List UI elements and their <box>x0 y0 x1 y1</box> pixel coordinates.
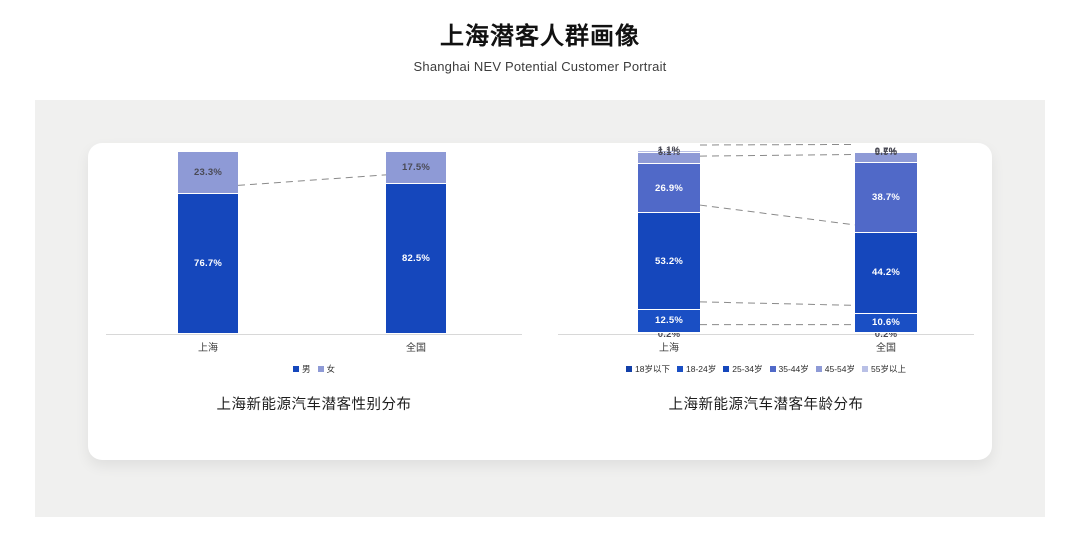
age-segment-label: 26.9% <box>655 184 683 194</box>
age-chart-panel: 0.2%12.5%53.2%26.9%6.1%1.1% 0.2%10.6%44.… <box>540 143 992 460</box>
gender-legend-item[interactable]: 女 <box>318 365 336 374</box>
age-connector <box>700 302 855 305</box>
age-segment-3-1: 38.7% <box>855 163 917 233</box>
gender-plot-area: 76.7%23.3% 82.5%17.5% 上海 全国 <box>88 143 540 343</box>
age-legend-label: 35-44岁 <box>779 365 809 374</box>
age-connector-lines <box>540 143 992 343</box>
gender-tick-national: 全国 <box>406 339 426 354</box>
age-legend-item[interactable]: 18-24岁 <box>677 365 716 374</box>
legend-swatch-icon <box>862 366 868 372</box>
age-legend-label: 45-54岁 <box>825 365 855 374</box>
legend-swatch-icon <box>723 366 729 372</box>
age-bar-shanghai: 0.2%12.5%53.2%26.9%6.1%1.1% <box>638 151 700 334</box>
gender-legend-label: 女 <box>327 365 336 374</box>
age-segment-label: 0.7% <box>875 147 897 157</box>
age-legend-label: 55岁以上 <box>871 365 906 374</box>
gender-bar-shanghai: 76.7%23.3% <box>178 152 238 334</box>
age-legend: 18岁以下18-24岁25-34岁35-44岁45-54岁55岁以上 <box>540 365 992 374</box>
gender-bar-national: 82.5%17.5% <box>386 152 446 334</box>
age-connector <box>700 205 855 225</box>
gender-segment-0-1: 82.5% <box>386 184 446 334</box>
age-chart-caption: 上海新能源汽车潜客年龄分布 <box>540 393 992 414</box>
age-legend-label: 18-24岁 <box>686 365 716 374</box>
gender-connector-lines <box>88 143 540 343</box>
age-segment-label: 12.5% <box>655 316 683 326</box>
age-legend-item[interactable]: 18岁以下 <box>626 365 670 374</box>
age-legend-item[interactable]: 25-34岁 <box>723 365 762 374</box>
age-tick-national: 全国 <box>876 339 896 354</box>
gender-legend-item[interactable]: 男 <box>293 365 311 374</box>
gender-axis-line <box>106 334 522 335</box>
age-segment-label: 10.6% <box>872 318 900 328</box>
legend-swatch-icon <box>293 366 299 372</box>
age-legend-label: 18岁以下 <box>635 365 670 374</box>
age-segment-label: 1.1% <box>658 146 680 156</box>
age-axis-line <box>558 334 974 335</box>
gender-segment-1-1: 17.5% <box>386 152 446 184</box>
age-plot-area: 0.2%12.5%53.2%26.9%6.1%1.1% 0.2%10.6%44.… <box>540 143 992 343</box>
age-segment-5-0: 1.1% <box>638 151 700 153</box>
gender-legend: 男女 <box>88 365 540 374</box>
age-segment-2-0: 53.2% <box>638 213 700 310</box>
gender-chart-caption: 上海新能源汽车潜客性别分布 <box>88 393 540 414</box>
age-legend-item[interactable]: 55岁以上 <box>862 365 906 374</box>
legend-swatch-icon <box>677 366 683 372</box>
age-segment-3-0: 26.9% <box>638 164 700 213</box>
charts-card: 76.7%23.3% 82.5%17.5% 上海 全国 男女 上海新能源汽车潜客… <box>88 143 992 460</box>
age-segment-1-0: 12.5% <box>638 310 700 333</box>
gender-chart-panel: 76.7%23.3% 82.5%17.5% 上海 全国 男女 上海新能源汽车潜客… <box>88 143 540 460</box>
gender-segment-0-0: 76.7% <box>178 194 238 334</box>
age-legend-item[interactable]: 45-54岁 <box>816 365 855 374</box>
age-segment-5-1: 0.7% <box>855 152 917 153</box>
age-segment-2-1: 44.2% <box>855 233 917 313</box>
gender-segment-label: 82.5% <box>402 254 430 264</box>
gender-legend-label: 男 <box>302 365 311 374</box>
gender-segment-label: 76.7% <box>194 259 222 269</box>
age-segment-label: 53.2% <box>655 257 683 267</box>
age-connector <box>700 154 855 156</box>
gender-segment-label: 23.3% <box>194 168 222 178</box>
legend-swatch-icon <box>770 366 776 372</box>
age-segment-1-1: 10.6% <box>855 314 917 333</box>
age-segment-0-0: 0.2% <box>638 333 700 334</box>
age-segment-label: 38.7% <box>872 193 900 203</box>
gender-connector <box>238 175 386 186</box>
age-legend-label: 25-34岁 <box>732 365 762 374</box>
legend-swatch-icon <box>318 366 324 372</box>
age-tick-shanghai: 上海 <box>659 339 679 354</box>
page-header: 上海潜客人群画像 Shanghai NEV Potential Customer… <box>0 0 1080 74</box>
legend-swatch-icon <box>816 366 822 372</box>
gender-tick-shanghai: 上海 <box>198 339 218 354</box>
age-segment-label: 44.2% <box>872 268 900 278</box>
age-legend-item[interactable]: 35-44岁 <box>770 365 809 374</box>
page-subtitle: Shanghai NEV Potential Customer Portrait <box>0 59 1080 74</box>
legend-swatch-icon <box>626 366 632 372</box>
age-segment-0-1: 0.2% <box>855 333 917 334</box>
age-bar-national: 0.2%10.6%44.2%38.7%5.5%0.7% <box>855 152 917 334</box>
age-connector <box>700 144 855 145</box>
gender-segment-label: 17.5% <box>402 163 430 173</box>
gender-segment-1-0: 23.3% <box>178 152 238 194</box>
page-title: 上海潜客人群画像 <box>0 22 1080 52</box>
